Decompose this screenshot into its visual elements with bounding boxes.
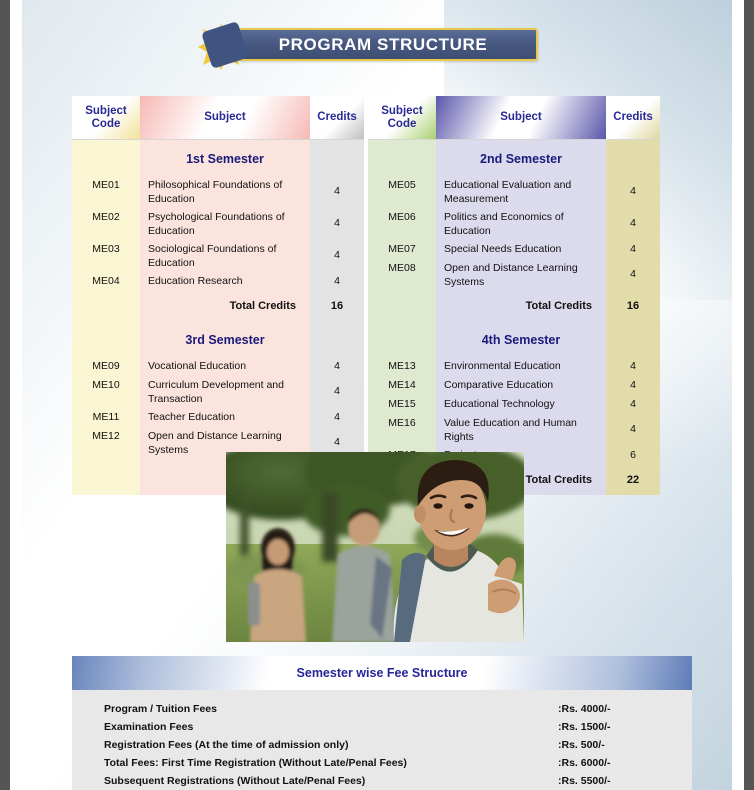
- students-campus-photo: [226, 452, 524, 642]
- course-code: ME04: [72, 272, 140, 291]
- course-code: ME02: [72, 208, 140, 240]
- course-credits: 4: [310, 208, 364, 240]
- title-bar: PROGRAM STRUCTURE: [228, 28, 538, 61]
- semester-title-spacer: [606, 140, 660, 176]
- course-credits: 4: [606, 376, 660, 395]
- course-code: ME01: [72, 176, 140, 208]
- total-credits-value: 16: [606, 291, 660, 321]
- course-title: Educational Evaluation and Measurement: [436, 176, 606, 208]
- fee-row: Total Fees: First Time Registration (Wit…: [72, 754, 692, 772]
- course-credits: 4: [310, 376, 364, 408]
- fee-value: :Rs. 5500/-: [552, 775, 692, 787]
- total-credits-spacer: [72, 459, 140, 489]
- total-credits-label: Total Credits: [140, 291, 310, 321]
- course-title: Philosophical Foundations of Education: [140, 176, 310, 208]
- fee-label: Program / Tuition Fees: [72, 703, 552, 715]
- column-credits-left: 444416444416: [310, 140, 364, 495]
- header-subject-code-left-line1: Subject: [85, 105, 127, 118]
- total-credits-spacer: [72, 291, 140, 321]
- semester-title: 1st Semester: [140, 140, 310, 176]
- table-header-row: Subject Code Subject Credits Subject Cod…: [72, 96, 690, 140]
- course-code: ME10: [72, 376, 140, 408]
- course-code: ME08: [368, 259, 436, 291]
- fee-label: Examination Fees: [72, 721, 552, 733]
- fee-row: Program / Tuition Fees:Rs. 4000/-: [72, 700, 692, 718]
- course-credits: 4: [606, 240, 660, 259]
- course-code: ME16: [368, 414, 436, 446]
- fee-label: Total Fees: First Time Registration (Wit…: [72, 757, 552, 769]
- course-code: ME05: [368, 176, 436, 208]
- semester-title-spacer: [72, 140, 140, 176]
- column-subject-code-right: ME05ME06ME07ME08ME13ME14ME15ME16ME17: [368, 140, 436, 495]
- total-credits-spacer: [368, 291, 436, 321]
- course-title: Special Needs Education: [436, 240, 606, 259]
- semester-stack-right: ME05ME06ME07ME08ME13ME14ME15ME16ME17 2nd…: [368, 140, 660, 495]
- fee-structure-header: Semester wise Fee Structure: [72, 656, 692, 690]
- page-edge-strip-left: [0, 0, 10, 790]
- course-credits: 4: [606, 208, 660, 240]
- course-code: ME09: [72, 357, 140, 376]
- course-title: Vocational Education: [140, 357, 310, 376]
- semester-title-spacer: [310, 321, 364, 357]
- header-subject-code-right-line2: Code: [381, 118, 423, 131]
- semester-title-spacer: [368, 321, 436, 357]
- course-credits: 4: [310, 240, 364, 272]
- course-title: Comparative Education: [436, 376, 606, 395]
- header-credits-right: Credits: [606, 96, 660, 140]
- course-code: ME06: [368, 208, 436, 240]
- fee-value: :Rs. 1500/-: [552, 721, 692, 733]
- header-credits-right-label: Credits: [613, 111, 653, 124]
- header-subject-left-label: Subject: [204, 111, 246, 124]
- course-code: ME14: [368, 376, 436, 395]
- header-subject-code-left-line2: Code: [85, 118, 127, 131]
- course-code: ME13: [368, 357, 436, 376]
- course-title: Value Education and Human Rights: [436, 414, 606, 446]
- course-credits: 4: [606, 176, 660, 208]
- fee-structure-section: Semester wise Fee Structure Program / Tu…: [72, 656, 692, 790]
- header-subject-code-right-line1: Subject: [381, 105, 423, 118]
- course-code: ME03: [72, 240, 140, 272]
- fee-row: Subsequent Registrations (Without Late/P…: [72, 772, 692, 790]
- header-subject-right-label: Subject: [500, 111, 542, 124]
- course-code: ME12: [72, 427, 140, 459]
- page-title: PROGRAM STRUCTURE: [279, 35, 488, 55]
- semester-title-spacer: [606, 321, 660, 357]
- course-credits: 4: [310, 357, 364, 376]
- semester-title: 3rd Semester: [140, 321, 310, 357]
- header-subject-code-left: Subject Code: [72, 96, 140, 140]
- semester-title-spacer: [72, 321, 140, 357]
- column-subject-right: 2nd SemesterEducational Evaluation and M…: [436, 140, 606, 495]
- page-edge-strip-right: [744, 0, 754, 790]
- column-credits-right: 4444164444622: [606, 140, 660, 495]
- course-title: Education Research: [140, 272, 310, 291]
- table-body: ME01ME02ME03ME04ME09ME10ME11ME12 1st Sem…: [72, 140, 690, 495]
- total-credits-value: 16: [310, 291, 364, 321]
- course-credits: 4: [606, 414, 660, 446]
- fee-structure-title: Semester wise Fee Structure: [297, 666, 468, 680]
- course-title: Educational Technology: [436, 395, 606, 414]
- course-title: Sociological Foundations of Education: [140, 240, 310, 272]
- course-credits: 4: [310, 272, 364, 291]
- fee-structure-list: Program / Tuition Fees:Rs. 4000/-Examina…: [72, 690, 692, 790]
- course-title: Psychological Foundations of Education: [140, 208, 310, 240]
- semester-title-spacer: [368, 140, 436, 176]
- course-credits: 4: [310, 176, 364, 208]
- course-title: Environmental Education: [436, 357, 606, 376]
- fee-row: Examination Fees:Rs. 1500/-: [72, 718, 692, 736]
- course-credits: 6: [606, 446, 660, 465]
- semester-title: 4th Semester: [436, 321, 606, 357]
- header-subject-code-right: Subject Code: [368, 96, 436, 140]
- fee-value: :Rs. 6000/-: [552, 757, 692, 769]
- page-content: PROGRAM STRUCTURE Subject Code Subject C…: [10, 14, 744, 60]
- course-title: Open and Distance Learning Systems: [436, 259, 606, 291]
- fee-label: Registration Fees (At the time of admiss…: [72, 739, 552, 751]
- course-title: Teacher Education: [140, 408, 310, 427]
- header-subject-left: Subject: [140, 96, 310, 140]
- document-page: PROGRAM STRUCTURE Subject Code Subject C…: [10, 0, 744, 790]
- header-subject-right: Subject: [436, 96, 606, 140]
- course-code: ME15: [368, 395, 436, 414]
- title-banner: PROGRAM STRUCTURE: [10, 14, 744, 60]
- semester-title: 2nd Semester: [436, 140, 606, 176]
- course-credits: 4: [606, 259, 660, 291]
- course-credits: 4: [606, 395, 660, 414]
- semester-stack-left: ME01ME02ME03ME04ME09ME10ME11ME12 1st Sem…: [72, 140, 364, 495]
- course-title: Curriculum Development and Transaction: [140, 376, 310, 408]
- course-code: ME11: [72, 408, 140, 427]
- fee-value: :Rs. 500/-: [552, 739, 692, 751]
- total-credits-label: Total Credits: [436, 291, 606, 321]
- course-code: ME07: [368, 240, 436, 259]
- fee-row: Registration Fees (At the time of admiss…: [72, 736, 692, 754]
- column-subject-code-left: ME01ME02ME03ME04ME09ME10ME11ME12: [72, 140, 140, 495]
- course-credits: 4: [606, 357, 660, 376]
- fee-label: Subsequent Registrations (Without Late/P…: [72, 775, 552, 787]
- header-credits-left-label: Credits: [317, 111, 357, 124]
- header-credits-left: Credits: [310, 96, 364, 140]
- course-credits: 4: [310, 408, 364, 427]
- program-structure-table: Subject Code Subject Credits Subject Cod…: [72, 96, 690, 495]
- total-credits-value: 22: [606, 465, 660, 495]
- course-title: Politics and Economics of Education: [436, 208, 606, 240]
- column-subject-left: 1st SemesterPhilosophical Foundations of…: [140, 140, 310, 495]
- fee-value: :Rs. 4000/-: [552, 703, 692, 715]
- semester-title-spacer: [310, 140, 364, 176]
